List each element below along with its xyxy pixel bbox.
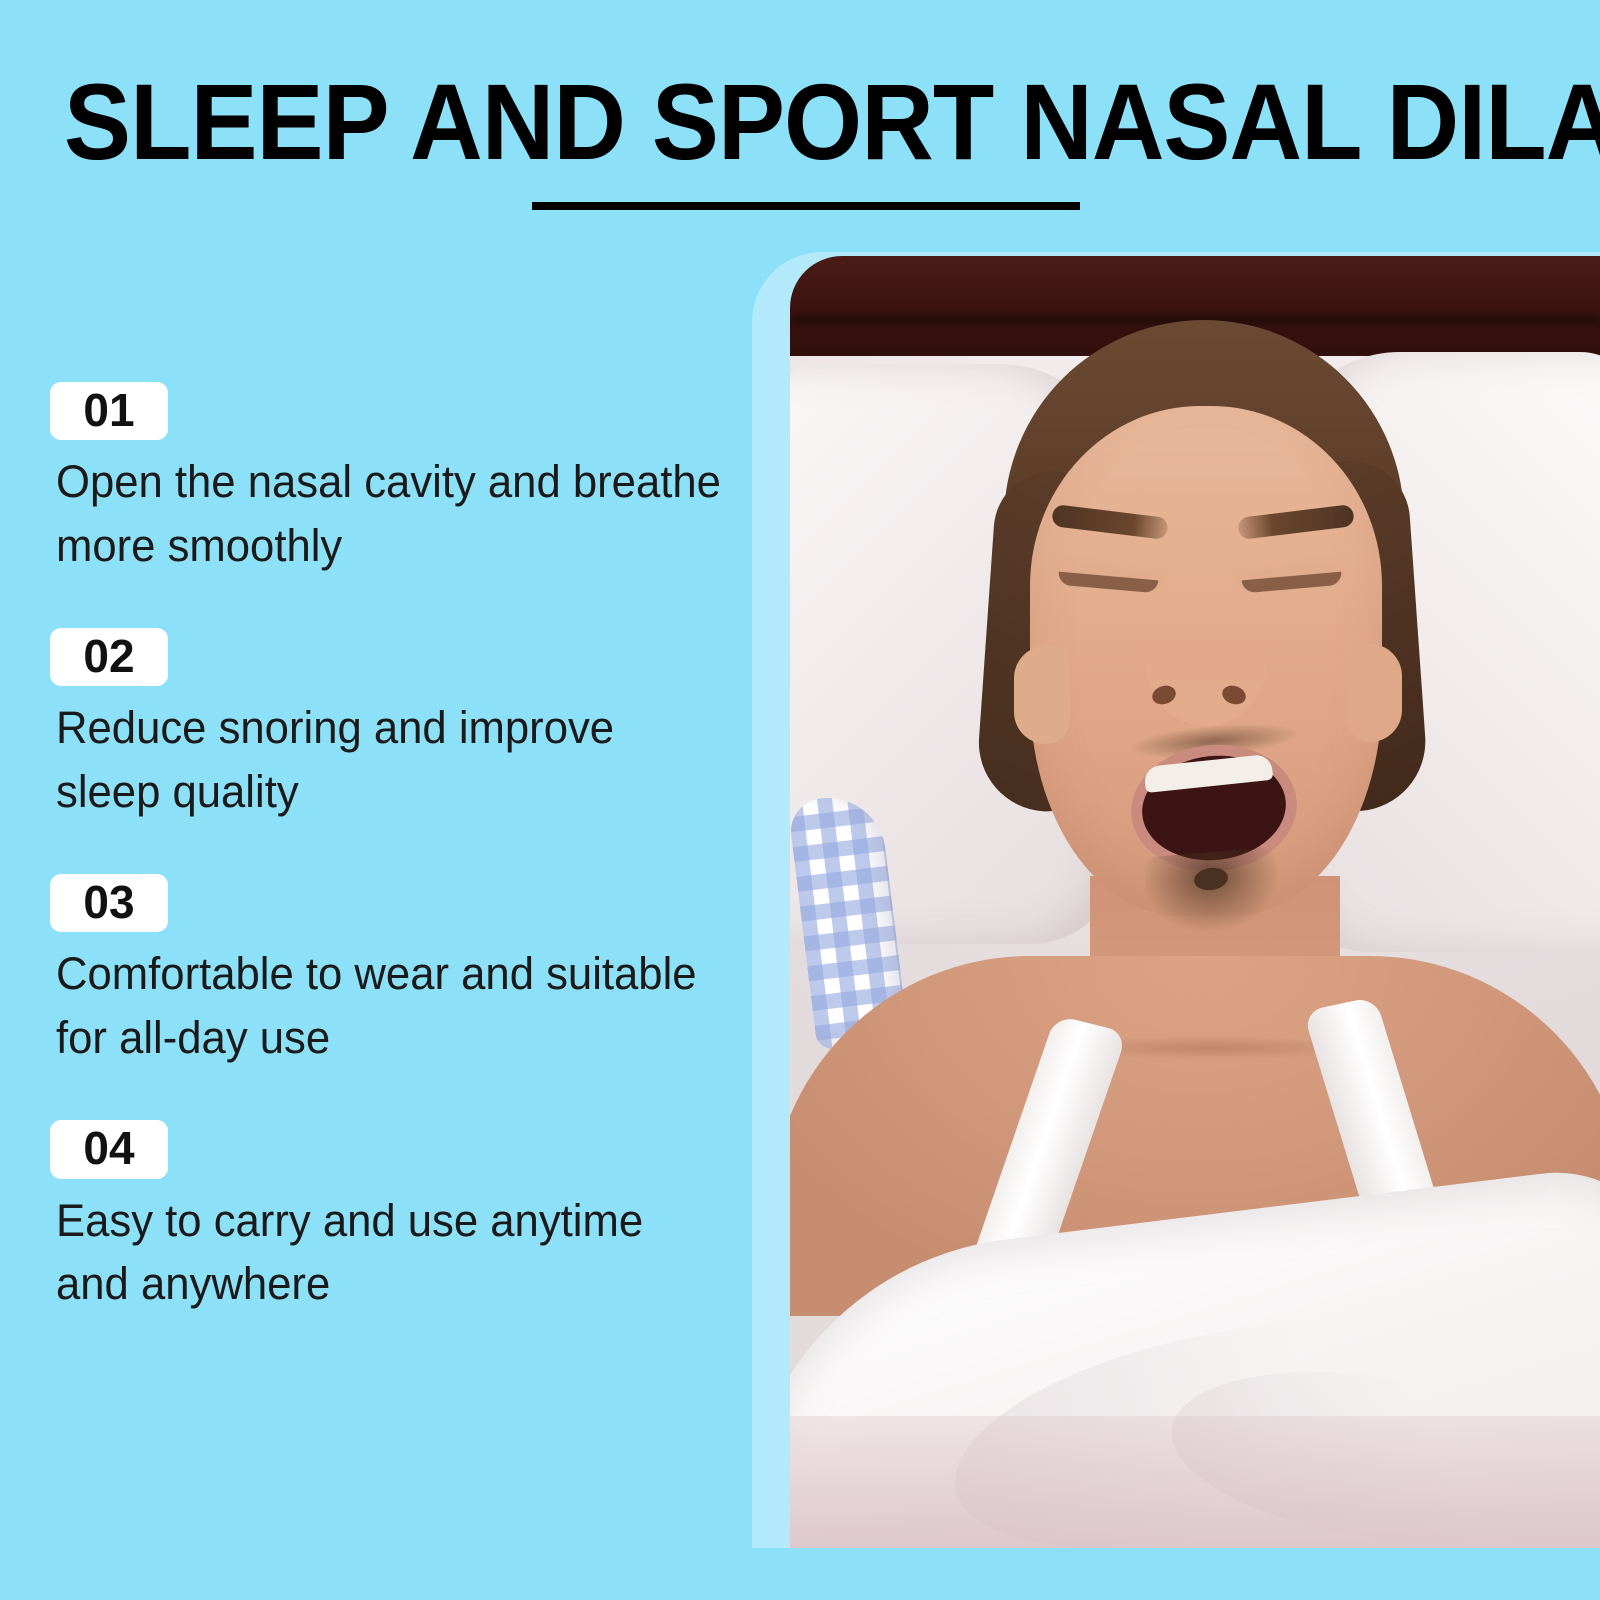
sleeping-man-photo bbox=[790, 256, 1600, 1548]
feature-text: Comfortable to wear and suitable for all… bbox=[56, 942, 725, 1070]
feature-text: Open the nasal cavity and breathe more s… bbox=[56, 450, 725, 578]
feature-number-badge: 03 bbox=[50, 874, 168, 932]
photo-frame bbox=[752, 252, 1600, 1548]
feature-list: 01 Open the nasal cavity and breathe mor… bbox=[50, 382, 750, 1316]
poster-root: SLEEP AND SPORT NASAL DILATOR 01 Open th… bbox=[0, 0, 1600, 1600]
beard bbox=[1143, 846, 1281, 935]
feature-number-badge: 01 bbox=[50, 382, 168, 440]
list-item: 01 Open the nasal cavity and breathe mor… bbox=[50, 382, 750, 578]
list-item: 02 Reduce snoring and improve sleep qual… bbox=[50, 628, 750, 824]
feature-text: Reduce snoring and improve sleep quality bbox=[56, 696, 725, 824]
feature-text: Easy to carry and use anytime and anywhe… bbox=[56, 1189, 725, 1317]
page-title: SLEEP AND SPORT NASAL DILATOR bbox=[64, 68, 1440, 176]
feature-number-badge: 04 bbox=[50, 1120, 168, 1178]
feature-number-badge: 02 bbox=[50, 628, 168, 686]
ear-left bbox=[1014, 646, 1070, 744]
photo-bottom-tint bbox=[790, 1416, 1600, 1548]
nose bbox=[1146, 606, 1266, 726]
list-item: 03 Comfortable to wear and suitable for … bbox=[50, 874, 750, 1070]
list-item: 04 Easy to carry and use anytime and any… bbox=[50, 1120, 750, 1316]
ear-right bbox=[1346, 644, 1402, 742]
title-underline bbox=[532, 202, 1080, 210]
